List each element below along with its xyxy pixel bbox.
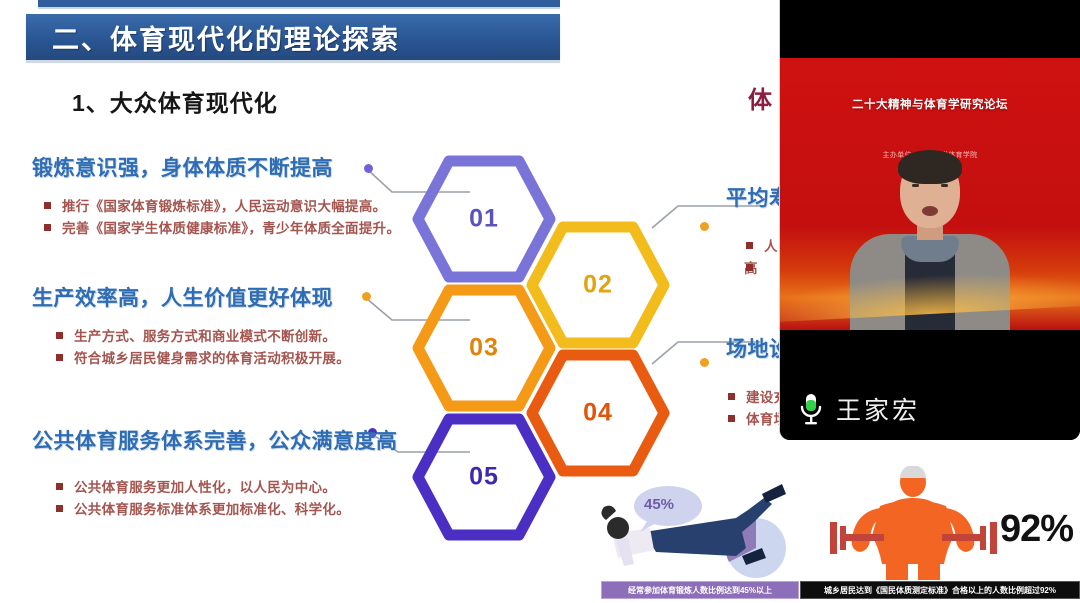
text-block-3-bullets: 公共体育服务更加人性化，以人民为中心。 公共体育服务标准体系更加标准化、科学化。 <box>54 477 398 521</box>
video-letterbox-top <box>780 0 1080 58</box>
text-block-1-heading: 锻炼意识强，身体体质不断提高 <box>32 152 400 182</box>
video-feed: 二十大精神与体育学研究论坛 主办单位：南华大学体育学院 <box>780 58 1080 330</box>
connector-dot-04 <box>700 358 709 367</box>
text-block-3-heading: 公共体育服务体系完善，公众满意度高 <box>32 425 398 455</box>
hexagon-05-label: 05 <box>414 463 554 492</box>
speaker-figure <box>850 154 1010 330</box>
list-item: 公共体育服务标准体系更加标准化、科学化。 <box>54 499 398 521</box>
hexagon-05: 05 <box>414 414 554 540</box>
infographic-plank-figure: 45% <box>596 470 806 580</box>
slide-title: 二、体育现代化的理论探索 <box>52 18 400 57</box>
connector-dot-03 <box>362 292 371 301</box>
microphone-icon[interactable] <box>798 392 824 426</box>
text-block-2-heading: 生产效率高，人生价值更好体现 <box>32 282 350 312</box>
infographic-value-45: 45% <box>644 496 674 513</box>
list-item: 生产方式、服务方式和商业模式不断创新。 <box>54 326 350 348</box>
video-banner-title: 二十大精神与体育学研究论坛 <box>780 96 1080 112</box>
text-block-1-bullets: 推行《国家体育锻炼标准》，人民运动意识大幅提高。 完善《国家学生体质健康标准》，… <box>42 196 400 240</box>
text-block-1: 锻炼意识强，身体体质不断提高 推行《国家体育锻炼标准》，人民运动意识大幅提高。 … <box>32 152 400 240</box>
text-block-2: 生产效率高，人生价值更好体现 生产方式、服务方式和商业模式不断创新。 符合城乡居… <box>32 282 350 370</box>
infographic-value-92: 92% <box>1000 508 1073 551</box>
infographic-caption-45: 经常参加体育锻炼人数比例达到45%以上 <box>601 581 799 599</box>
slide-title-banner: 二、体育现代化的理论探索 <box>26 14 560 60</box>
infographic-caption-92: 城乡居民达到《国民体质测定标准》合格以上的人数比例超过92% <box>800 581 1080 599</box>
list-item: 符合城乡居民健身需求的体育活动积极开展。 <box>54 348 350 370</box>
right-section-title: 体 <box>748 80 773 115</box>
list-item: 推行《国家体育锻炼标准》，人民运动意识大幅提高。 <box>42 196 400 218</box>
list-item: 公共体育服务更加人性化，以人民为中心。 <box>54 477 398 499</box>
video-participant-panel[interactable]: 二十大精神与体育学研究论坛 主办单位：南华大学体育学院 <box>780 0 1080 440</box>
speaker-name: 王家宏 <box>836 391 920 427</box>
text-block-3: 公共体育服务体系完善，公众满意度高 公共体育服务更加人性化，以人民为中心。 公共… <box>32 425 398 521</box>
speaker-name-bar: 王家宏 <box>780 378 1080 440</box>
slide-top-rule <box>38 0 560 9</box>
banner-underline <box>26 60 560 63</box>
connector-dot-02 <box>700 222 709 231</box>
slide-subtitle: 1、大众体育现代化 <box>72 84 278 118</box>
infographic-strongman-figure: 92% <box>820 466 1070 582</box>
text-block-2-bullets: 生产方式、服务方式和商业模式不断创新。 符合城乡居民健身需求的体育活动积极开展。 <box>54 326 350 370</box>
screen-share-stage: 二、体育现代化的理论探索 1、大众体育现代化 体 锻炼意识强，身体体质不断提高 <box>0 0 1080 603</box>
list-item: 完善《国家学生体质健康标准》，青少年体质全面提升。 <box>42 218 400 240</box>
